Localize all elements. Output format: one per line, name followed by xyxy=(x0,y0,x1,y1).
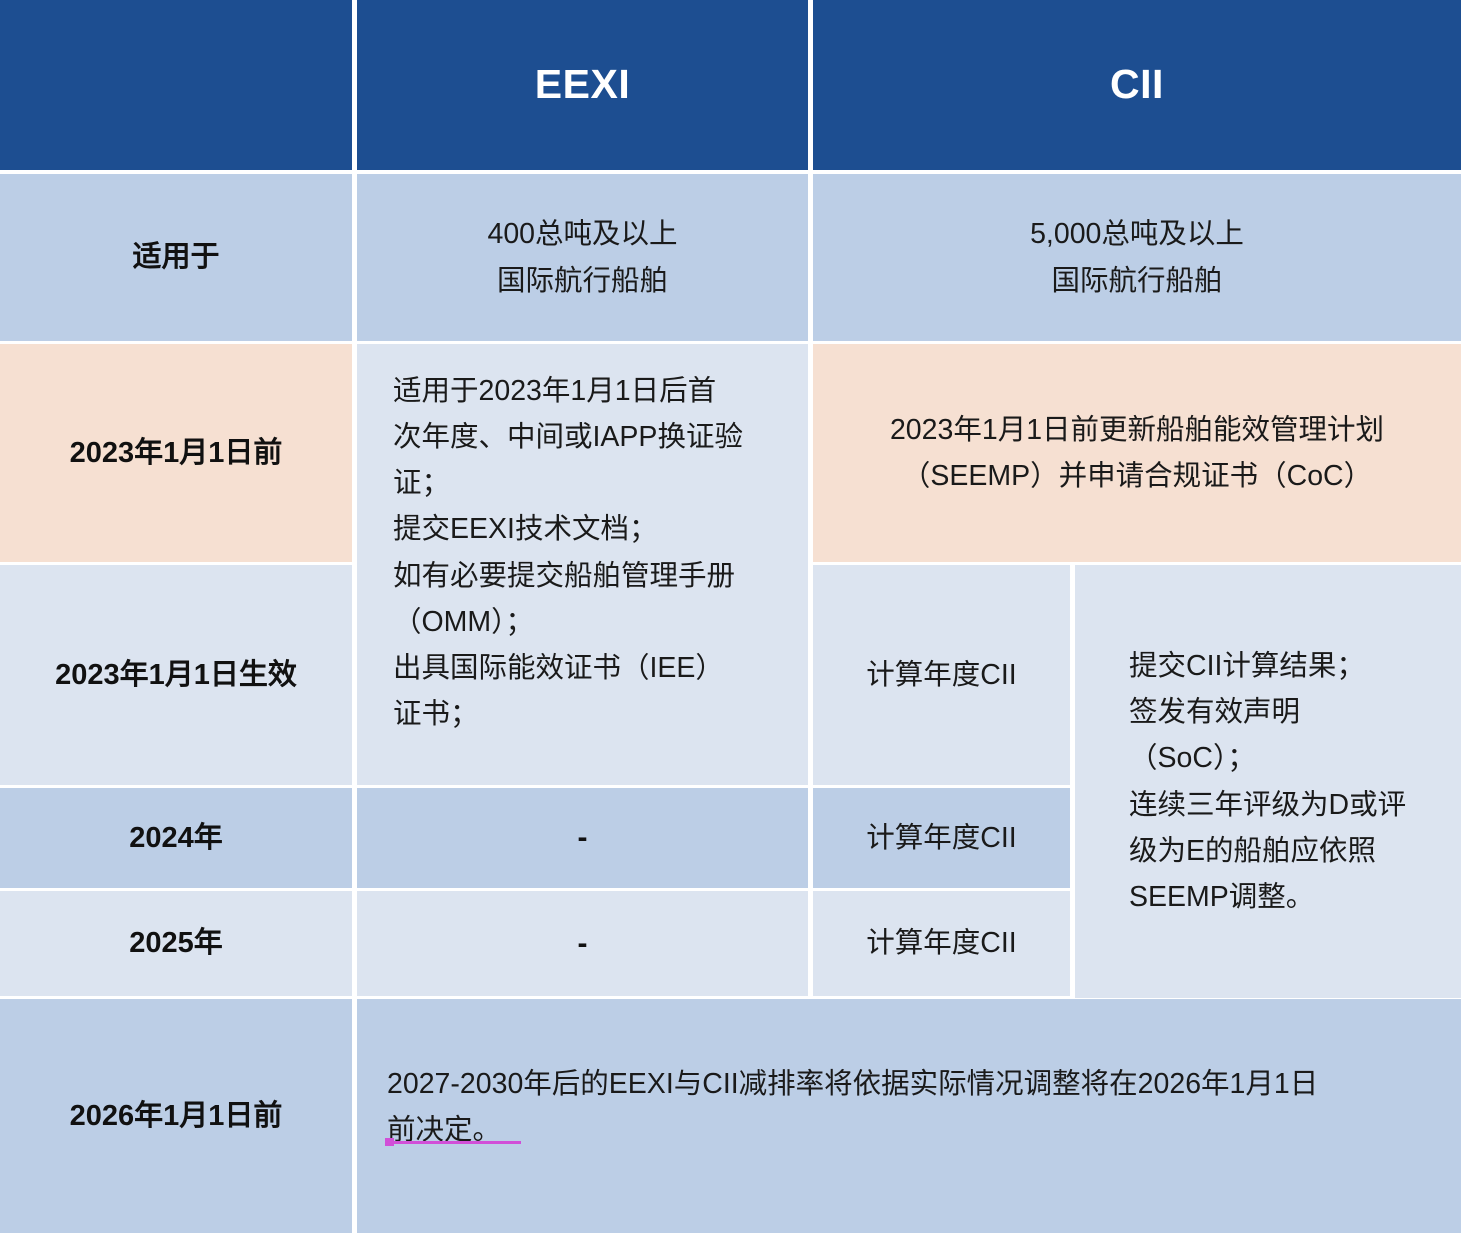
eexi-req-line-1: 适用于2023年1月1日后首 xyxy=(393,368,743,414)
cii-report-line-1: 提交CII计算结果； xyxy=(1129,643,1406,689)
applies-to-eexi-line-1: 400总吨及以上 xyxy=(487,211,677,257)
applies-to-cii-line-2: 国际航行船舶 xyxy=(1030,258,1244,304)
cell-2025-cii-annual-text: 计算年度CII xyxy=(866,920,1016,966)
cell-applies-to-eexi: 400总吨及以上 国际航行船舶 xyxy=(357,174,808,341)
applies-to-cii-lines: 5,000总吨及以上 国际航行船舶 xyxy=(1030,211,1244,303)
applies-to-eexi-line-2: 国际航行船舶 xyxy=(487,258,677,304)
edit-mark-handle xyxy=(385,1138,394,1146)
edit-mark-underline xyxy=(391,1141,521,1144)
eexi-req-line-6: （OMM）； xyxy=(393,599,743,645)
cell-2025-cii-annual: 计算年度CII xyxy=(813,891,1070,996)
before-2026-note-lines: 2027-2030年后的EEXI与CII减排率将依据实际情况调整将在2026年1… xyxy=(387,1061,1318,1153)
cell-before-2023-cii: 2023年1月1日前更新船舶能效管理计划 （SEEMP）并申请合规证书（CoC） xyxy=(813,344,1461,562)
eexi-req-line-4: 提交EEXI技术文档； xyxy=(393,506,743,552)
before-2026-note-line-2: 前决定。 xyxy=(387,1107,1318,1153)
row-label-before-2023: 2023年1月1日前 xyxy=(0,344,352,562)
eexi-req-line-8: 证书； xyxy=(393,691,743,737)
eexi-req-line-2: 次年度、中间或IAPP换证验 xyxy=(393,414,743,460)
row-label-2025: 2025年 xyxy=(0,891,352,996)
cii-report-line-4: 连续三年评级为D或评 xyxy=(1129,782,1406,828)
applies-to-eexi-lines: 400总吨及以上 国际航行船舶 xyxy=(487,211,677,303)
row-label-before-2026-text: 2026年1月1日前 xyxy=(70,1098,283,1134)
row-label-before-2023-text: 2023年1月1日前 xyxy=(70,435,283,471)
cii-report-line-3: （SoC）； xyxy=(1129,735,1406,781)
cell-2024-cii-annual-text: 计算年度CII xyxy=(866,815,1016,861)
row-label-effective-2023-text: 2023年1月1日生效 xyxy=(55,657,297,693)
header-label-cii: CII xyxy=(1110,62,1164,107)
before-2023-cii-line-1: 2023年1月1日前更新船舶能效管理计划 xyxy=(890,407,1384,453)
applies-to-cii-line-1: 5,000总吨及以上 xyxy=(1030,211,1244,257)
header-corner-cell xyxy=(0,0,352,170)
header-label-eexi: EEXI xyxy=(535,62,630,107)
cii-report-line-6: SEEMP调整。 xyxy=(1129,874,1406,920)
before-2023-cii-line-2: （SEEMP）并申请合规证书（CoC） xyxy=(890,453,1384,499)
cii-report-line-2: 签发有效声明 xyxy=(1129,689,1406,735)
effective-2023-cii-annual-text: 计算年度CII xyxy=(866,652,1016,698)
cell-cii-reporting-block: 提交CII计算结果； 签发有效声明 （SoC）； 连续三年评级为D或评 级为E的… xyxy=(1075,565,1461,998)
cell-2025-eexi-text: - xyxy=(578,929,588,959)
cii-reporting-lines: 提交CII计算结果； 签发有效声明 （SoC）； 连续三年评级为D或评 级为E的… xyxy=(1129,643,1406,920)
row-label-applies-to-text: 适用于 xyxy=(132,239,219,275)
cell-2024-cii-annual: 计算年度CII xyxy=(813,788,1070,888)
compliance-timeline-table: EEXI CII 适用于 400总吨及以上 国际航行船舶 5,000总吨及以上 … xyxy=(0,0,1461,1233)
row-label-2024: 2024年 xyxy=(0,788,352,888)
eexi-req-line-3: 证； xyxy=(393,460,743,506)
row-label-2024-text: 2024年 xyxy=(129,820,223,856)
cell-2024-eexi-text: - xyxy=(578,823,588,853)
cell-before-2026-note: 2027-2030年后的EEXI与CII减排率将依据实际情况调整将在2026年1… xyxy=(357,999,1461,1233)
row-label-before-2026: 2026年1月1日前 xyxy=(0,999,352,1233)
before-2026-note-line-1: 2027-2030年后的EEXI与CII减排率将依据实际情况调整将在2026年1… xyxy=(387,1061,1318,1107)
header-cell-cii: CII xyxy=(813,0,1461,170)
before-2023-cii-lines: 2023年1月1日前更新船舶能效管理计划 （SEEMP）并申请合规证书（CoC） xyxy=(890,407,1384,499)
row-label-effective-2023: 2023年1月1日生效 xyxy=(0,565,352,785)
cell-eexi-requirements-block: 适用于2023年1月1日后首 次年度、中间或IAPP换证验 证； 提交EEXI技… xyxy=(357,344,808,785)
cii-report-line-5: 级为E的船舶应依照 xyxy=(1129,828,1406,874)
cell-effective-2023-cii-annual: 计算年度CII xyxy=(813,565,1070,785)
cell-2024-eexi: - xyxy=(357,788,808,888)
eexi-requirements-lines: 适用于2023年1月1日后首 次年度、中间或IAPP换证验 证； 提交EEXI技… xyxy=(393,368,743,737)
cell-2025-eexi: - xyxy=(357,891,808,996)
eexi-req-line-7: 出具国际能效证书（IEE） xyxy=(393,645,743,691)
eexi-req-line-5: 如有必要提交船舶管理手册 xyxy=(393,553,743,599)
header-cell-eexi: EEXI xyxy=(357,0,808,170)
row-label-applies-to: 适用于 xyxy=(0,174,352,341)
cell-applies-to-cii: 5,000总吨及以上 国际航行船舶 xyxy=(813,174,1461,341)
row-label-2025-text: 2025年 xyxy=(129,925,223,961)
